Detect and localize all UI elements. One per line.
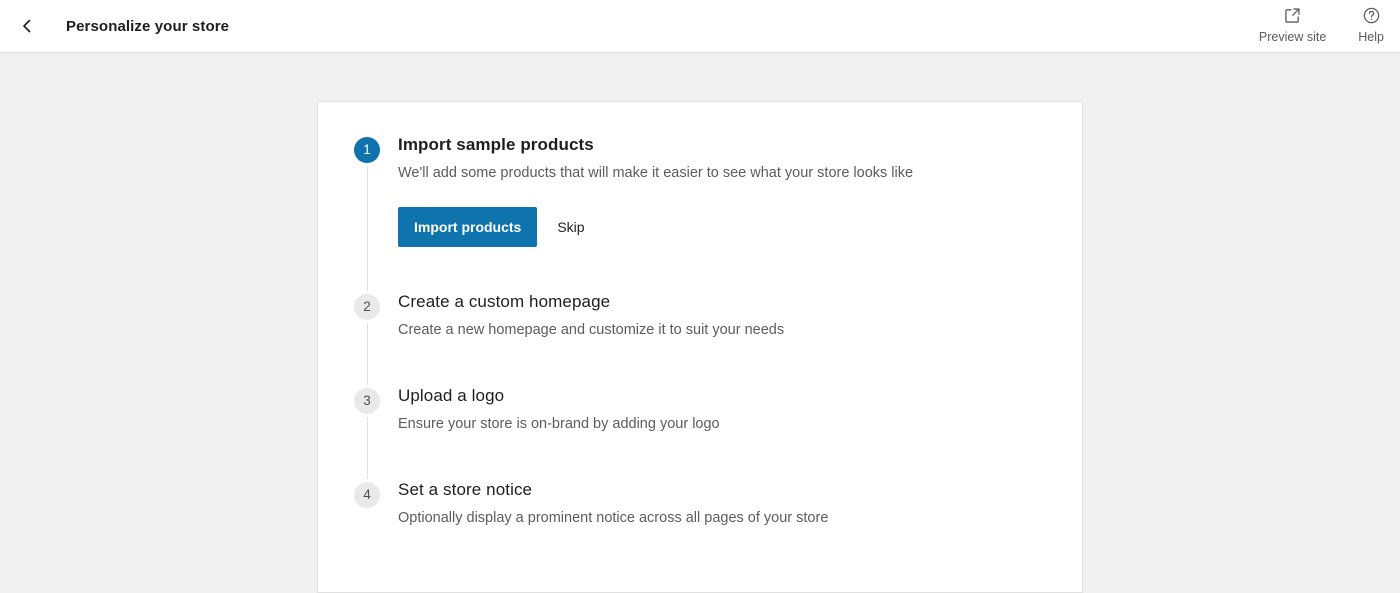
import-products-button[interactable]: Import products: [398, 207, 537, 247]
step-marker: 4: [354, 479, 380, 529]
step-body: Import sample products We'll add some pr…: [380, 134, 1046, 291]
step-marker: 1: [354, 134, 380, 291]
main-content: 1 Import sample products We'll add some …: [0, 53, 1400, 593]
step-body: Set a store notice Optionally display a …: [380, 479, 1046, 529]
preview-site-label: Preview site: [1259, 30, 1326, 45]
skip-button[interactable]: Skip: [543, 207, 598, 247]
help-circle-icon: [1362, 3, 1381, 27]
step-item-4[interactable]: 4 Set a store notice Optionally display …: [354, 479, 1046, 529]
step-connector-line: [367, 166, 368, 291]
preview-site-button[interactable]: Preview site: [1243, 0, 1342, 45]
help-label: Help: [1358, 30, 1384, 45]
chevron-left-icon: [18, 17, 36, 35]
step-title: Create a custom homepage: [398, 291, 1046, 314]
step-number-badge: 1: [354, 137, 380, 163]
step-description: Optionally display a prominent notice ac…: [398, 508, 1046, 529]
step-description: We'll add some products that will make i…: [398, 163, 1046, 184]
step-title: Set a store notice: [398, 479, 1046, 502]
app-header: Personalize your store Preview site H: [0, 0, 1400, 53]
step-connector-line: [367, 417, 368, 479]
steps-list: 1 Import sample products We'll add some …: [354, 134, 1046, 529]
step-title: Upload a logo: [398, 385, 1046, 408]
step-body: Create a custom homepage Create a new ho…: [380, 291, 1046, 385]
external-link-icon: [1283, 3, 1302, 27]
step-body: Upload a logo Ensure your store is on-br…: [380, 385, 1046, 479]
back-button[interactable]: [0, 0, 54, 53]
step-item-2[interactable]: 2 Create a custom homepage Create a new …: [354, 291, 1046, 385]
help-button[interactable]: Help: [1342, 0, 1400, 45]
step-marker: 3: [354, 385, 380, 479]
step-number-badge: 3: [354, 388, 380, 414]
header-actions: Preview site Help: [1243, 0, 1400, 53]
step-number-badge: 2: [354, 294, 380, 320]
step-actions: Import products Skip: [398, 207, 1046, 247]
page-title: Personalize your store: [66, 18, 229, 35]
onboarding-task-card: 1 Import sample products We'll add some …: [317, 101, 1083, 593]
step-description: Ensure your store is on-brand by adding …: [398, 414, 1046, 435]
step-marker: 2: [354, 291, 380, 385]
step-item-1[interactable]: 1 Import sample products We'll add some …: [354, 134, 1046, 291]
step-title: Import sample products: [398, 134, 1046, 157]
step-description: Create a new homepage and customize it t…: [398, 320, 1046, 341]
step-number-badge: 4: [354, 482, 380, 508]
step-connector-line: [367, 323, 368, 385]
step-item-3[interactable]: 3 Upload a logo Ensure your store is on-…: [354, 385, 1046, 479]
